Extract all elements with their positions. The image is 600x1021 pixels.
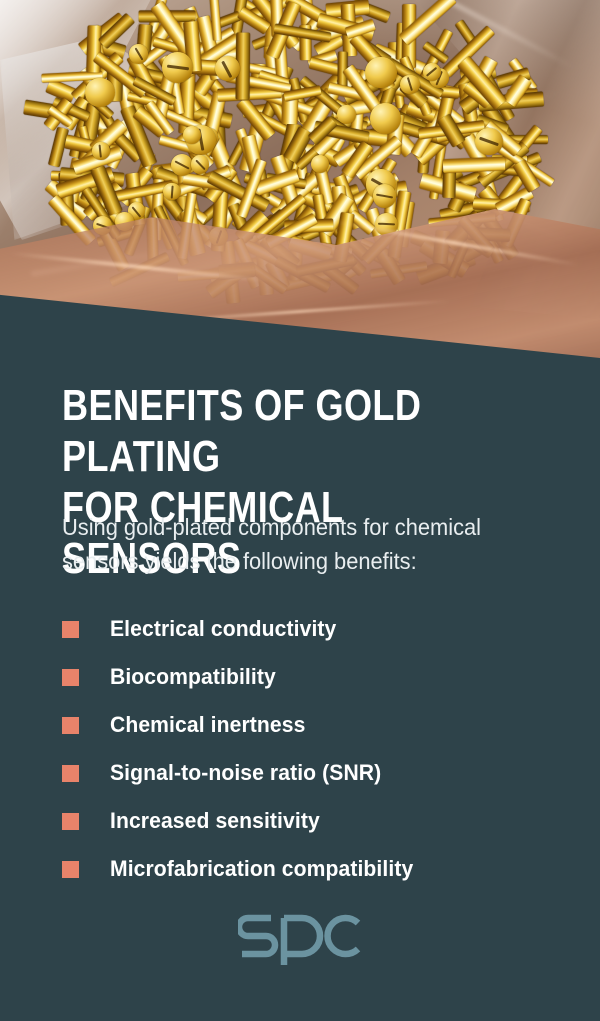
gold-pin-head xyxy=(365,57,396,88)
benefit-list-item: Microfabrication compatibility xyxy=(62,845,582,893)
bullet-square-icon xyxy=(62,813,79,830)
gold-pin-head xyxy=(311,155,329,173)
benefit-label: Electrical conductivity xyxy=(110,616,336,642)
bullet-square-icon xyxy=(62,669,79,686)
bullet-square-icon xyxy=(62,765,79,782)
bullet-square-icon xyxy=(62,621,79,638)
gold-pin-head xyxy=(85,78,115,108)
benefit-label: Biocompatibility xyxy=(110,664,276,690)
benefit-list-item: Electrical conductivity xyxy=(62,605,582,653)
intro-paragraph: Using gold-plated components for chemica… xyxy=(62,510,537,578)
spc-logo-icon xyxy=(238,905,363,967)
bullet-square-icon xyxy=(62,717,79,734)
infographic-card: Benefits of Gold Plating for Chemical Se… xyxy=(0,0,600,1021)
benefit-label: Signal-to-noise ratio (SNR) xyxy=(110,760,381,786)
benefit-label: Increased sensitivity xyxy=(110,808,320,834)
benefit-list-item: Biocompatibility xyxy=(62,653,582,701)
brand-logo xyxy=(0,905,600,967)
gold-pin-head xyxy=(337,105,356,124)
benefit-list-item: Signal-to-noise ratio (SNR) xyxy=(62,749,582,797)
benefit-list-item: Increased sensitivity xyxy=(62,797,582,845)
benefit-label: Microfabrication compatibility xyxy=(110,856,413,882)
benefits-list: Electrical conductivityBiocompatibilityC… xyxy=(62,605,582,893)
gold-pin-head xyxy=(370,103,401,134)
hero-image xyxy=(0,0,600,365)
benefit-list-item: Chemical inertness xyxy=(62,701,582,749)
benefit-label: Chemical inertness xyxy=(110,712,305,738)
gold-pin xyxy=(443,157,506,174)
content-panel: Benefits of Gold Plating for Chemical Se… xyxy=(0,365,600,1021)
bullet-square-icon xyxy=(62,861,79,878)
